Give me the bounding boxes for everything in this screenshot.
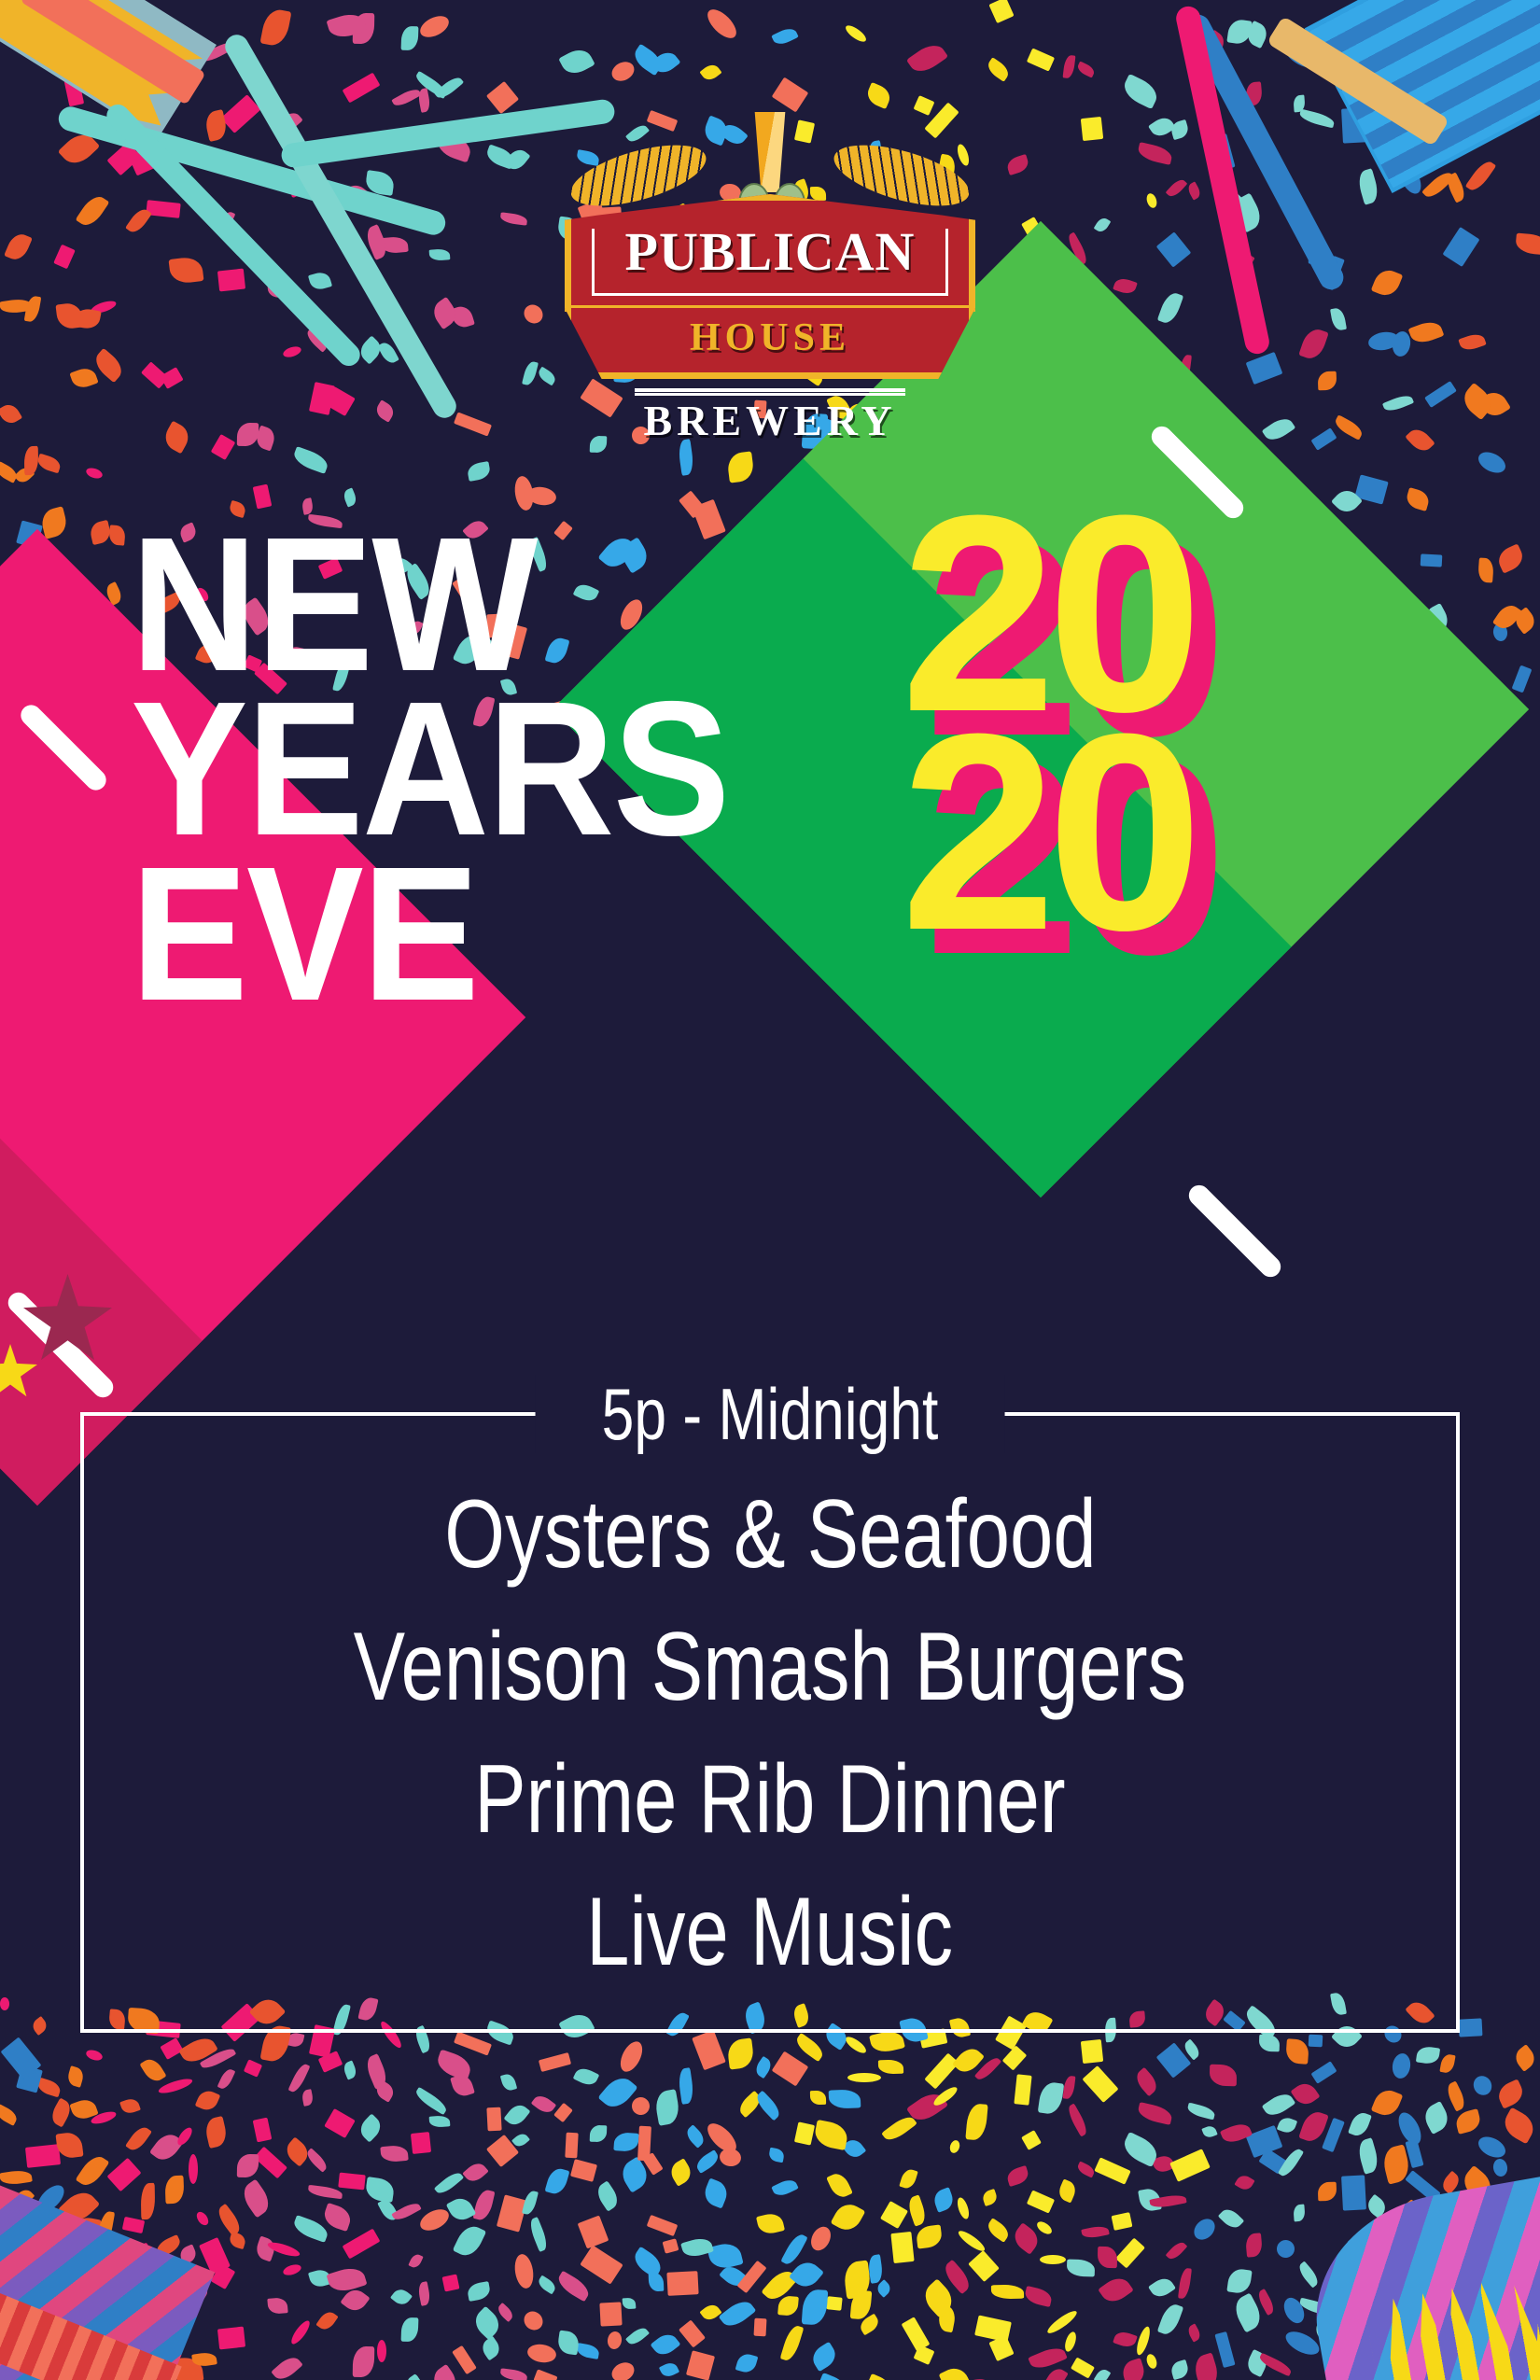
confetti-piece [1424,381,1457,408]
confetti-piece [53,245,76,270]
logo-publican-text: PUBLICAN [571,225,969,279]
confetti-piece [1515,233,1540,256]
confetti-piece [719,2262,748,2291]
confetti-piece [1094,216,1112,234]
confetti-piece [802,2289,829,2326]
confetti-piece [1098,2247,1117,2268]
confetti-piece [875,2279,893,2298]
confetti-piece [1157,290,1184,326]
confetti-piece [844,2034,869,2055]
confetti-piece [1246,2125,1283,2158]
confetti-piece [1444,2080,1468,2111]
confetti-piece [1348,2110,1372,2139]
confetti-piece [761,2266,798,2305]
confetti-piece [607,2331,623,2350]
confetti-piece [1333,414,1365,440]
confetti-piece [599,2302,622,2326]
confetti-piece [200,2045,236,2072]
confetti-piece [1416,2045,1440,2065]
confetti-piece [914,2345,935,2365]
confetti-piece [14,465,35,486]
confetti-piece [594,2180,623,2211]
confetti-piece [504,2101,531,2129]
confetti-piece [1285,2038,1309,2065]
confetti-piece [1458,331,1486,353]
confetti-piece [467,2281,492,2302]
confetti-piece [531,2093,556,2117]
confetti-piece [450,303,475,329]
confetti-piece [390,2286,413,2308]
confetti-piece [520,2307,546,2333]
confetti-piece [338,2173,366,2191]
confetti-piece [1245,2233,1263,2257]
confetti-piece [1310,427,1337,451]
confetti-piece [1063,2075,1076,2099]
confetti-piece [1354,474,1388,504]
confetti-piece [974,2054,1001,2082]
confetti-piece [90,2109,118,2126]
confetti-piece [1067,2259,1096,2276]
confetti-piece [810,2091,826,2105]
confetti-piece [719,2296,757,2331]
confetti-piece [160,367,183,389]
confetti-piece [1186,181,1203,200]
confetti-piece [1477,557,1494,582]
confetti-piece [858,2314,882,2336]
confetti-piece [401,2373,434,2380]
confetti-piece [1226,2267,1252,2294]
confetti-piece [1210,2065,1237,2087]
confetti-piece [794,2121,815,2145]
confetti-piece [826,2296,842,2311]
confetti-piece [1459,2018,1483,2037]
confetti-piece [867,2254,884,2284]
confetti-piece [952,2044,985,2078]
confetti-piece [1391,2052,1412,2080]
confetti-piece [326,2264,367,2295]
confetti-piece [411,2132,431,2154]
confetti-piece [1367,330,1401,353]
confetti-piece [939,2364,973,2380]
menu-item-label: Oysters & Seafood [444,1468,1096,1601]
confetti-piece [429,2115,451,2128]
confetti-piece [343,73,381,104]
confetti-piece [340,2285,370,2315]
confetti-piece [125,205,152,235]
confetti-piece [680,2235,714,2260]
confetti-piece [1500,2107,1539,2145]
confetti-piece [780,2324,805,2363]
confetti-piece [1458,383,1496,420]
confetti-piece [1511,607,1538,635]
confetti-piece [756,2211,785,2236]
confetti-piece [343,2229,381,2260]
confetti-piece [413,71,450,99]
confetti-piece [434,2050,473,2081]
confetti-piece [905,2194,928,2226]
confetti-piece [1201,2124,1217,2139]
confetti-piece [282,2136,313,2166]
confetti-piece [453,2221,486,2260]
confetti-piece [146,200,180,218]
confetti-piece [1021,2130,1042,2150]
confetti-piece [890,2232,914,2263]
confetti-piece [1182,2038,1202,2060]
confetti-piece [625,2325,650,2348]
confetti-piece [1113,276,1138,297]
confetti-piece [1148,114,1176,140]
confetti-piece [89,520,113,545]
confetti-piece [536,367,557,386]
confetti-piece [659,2360,679,2379]
confetti-piece [391,2200,421,2223]
confetti-piece [85,2048,104,2062]
confetti-piece [1259,2035,1281,2052]
confetti-piece [499,212,527,225]
confetti-piece [931,2187,956,2213]
confetti-piece [35,2078,62,2098]
confetti-piece [353,2346,375,2377]
confetti-piece [520,301,546,327]
confetti-piece [238,2179,274,2219]
confetti-piece [1043,2365,1068,2380]
confetti-piece [254,2147,287,2179]
confetti-piece [91,348,127,383]
confetti-piece [1330,307,1347,331]
confetti-piece [413,2087,450,2115]
confetti-piece [450,2072,475,2098]
confetti-piece [1169,2149,1211,2182]
confetti-piece [666,2271,698,2296]
confetti-piece [1038,2080,1064,2115]
confetti-piece [1310,2061,1337,2084]
confetti-piece [931,2084,959,2108]
confetti-piece [1023,2286,1053,2307]
confetti-piece [813,2120,850,2150]
confetti-piece [108,525,126,545]
confetti-piece [1230,2292,1266,2332]
confetti-piece [1290,2079,1320,2108]
confetti-piece [844,22,869,44]
confetti-piece [511,2131,530,2149]
confetti-piece [69,365,98,391]
confetti-piece [693,2149,721,2174]
confetti-piece [1277,2115,1297,2135]
confetti-piece [554,2271,592,2303]
menu-item-label: Venison Smash Burgers [354,1601,1187,1733]
confetti-piece [1186,2103,1216,2121]
confetti-piece [522,2190,539,2216]
confetti-piece [576,2343,600,2359]
confetti-piece [1076,62,1097,78]
confetti-piece [707,2240,743,2271]
confetti-piece [149,2129,184,2165]
confetti-piece [1391,330,1412,358]
year-bottom-digits: 20 [901,722,1194,941]
confetti-piece [956,2228,987,2254]
confetti-piece [321,2203,354,2232]
confetti-piece [789,2257,824,2292]
confetti-piece [1494,2079,1526,2108]
confetti-piece [772,77,809,113]
confetti-piece [617,2156,652,2192]
confetti-piece [315,2309,338,2333]
confetti-piece [1040,2255,1066,2264]
confetti-piece [1145,2353,1158,2370]
confetti-piece [754,2318,767,2337]
confetti-piece [1071,2357,1095,2378]
confetti-piece [771,25,799,48]
confetti-piece [119,2096,141,2115]
confetti-piece [651,48,681,77]
confetti-piece [1191,2352,1221,2380]
confetti-piece [1149,2192,1186,2209]
confetti-piece [486,2107,501,2132]
confetti-piece [253,2118,273,2143]
confetti-piece [467,461,492,482]
confetti-piece [807,2223,834,2254]
confetti-piece [356,2113,385,2142]
confetti-piece [4,231,33,263]
confetti-piece [287,2031,305,2048]
confetti-piece [1137,2102,1174,2125]
confetti-piece [1492,601,1522,633]
beer-glass-wheat-hops-emblem-icon [565,110,975,200]
confetti-piece [1120,74,1162,109]
confetti-piece [1477,387,1511,421]
confetti-piece [428,2364,460,2380]
confetti-piece [985,2218,1012,2243]
logo-banner-upper: PUBLICAN [565,194,975,312]
menu-item: Venison Smash Burgers [84,1601,1456,1733]
confetti-piece [1405,425,1435,455]
confetti-piece [1005,154,1030,175]
confetti-piece [527,2217,551,2252]
confetti-piece [948,2139,961,2154]
confetti-piece [1063,2331,1078,2353]
confetti-piece [308,2267,332,2289]
confetti-piece [452,2345,477,2374]
confetti-piece [768,2148,785,2163]
confetti-piece [512,2253,536,2290]
confetti-piece [1081,117,1103,141]
confetti-piece [808,2342,840,2372]
confetti-piece [178,2033,218,2067]
confetti-piece [1439,2053,1455,2074]
confetti-piece [484,144,516,169]
confetti-piece [653,2089,681,2126]
confetti-piece [35,454,62,474]
confetti-piece [1098,2273,1134,2307]
confetti-piece [649,2273,665,2292]
confetti-piece [139,2055,166,2085]
confetti-piece [692,2030,726,2071]
confetti-piece [0,2104,20,2126]
confetti-piece [780,2232,807,2267]
confetti-piece [1082,2065,1118,2103]
confetti-piece [522,360,539,386]
confetti-piece [981,2189,999,2206]
confetti-piece [526,2343,558,2365]
confetti-piece [974,2315,1012,2342]
confetti-piece [25,2144,61,2168]
confetti-piece [324,2108,356,2138]
confetti-piece [175,2125,194,2148]
brewery-logo: PUBLICAN HOUSE BREWERY [565,110,975,442]
confetti-piece [1244,2349,1270,2377]
confetti-piece [288,2318,313,2346]
confetti-piece [777,2295,799,2317]
confetti-piece [985,57,1012,82]
confetti-piece [736,2261,766,2293]
confetti-piece [363,2053,390,2090]
confetti-piece [1035,2219,1054,2237]
confetti-piece [679,2319,706,2347]
confetti-piece [609,58,637,84]
confetti-piece [726,451,755,483]
confetti-piece [590,2125,608,2143]
confetti-piece [1470,2073,1494,2098]
poster-headline: NEW YEARS EVE [131,523,780,1016]
confetti-piece [918,2278,958,2318]
confetti-piece [291,2215,330,2243]
confetti-piece [429,248,451,261]
confetti-piece [1421,2101,1452,2135]
confetti-piece [217,2067,236,2091]
confetti-piece [1166,176,1188,199]
confetti-piece [160,2037,183,2060]
confetti-piece [0,298,33,315]
confetti-piece [667,2158,695,2187]
confetti-piece [479,2336,503,2361]
confetti-piece [924,2053,959,2090]
confetti-piece [417,88,432,113]
confetti-piece [677,439,694,476]
confetti-piece [864,82,893,109]
confetti-piece [500,2072,517,2092]
confetti-piece [677,2067,694,2105]
confetti-piece [486,81,519,114]
confetti-piece [1442,227,1479,267]
confetti-piece [1421,553,1443,567]
confetti-piece [377,2340,386,2362]
confetti-piece [1371,266,1404,300]
confetti-piece [814,2373,850,2380]
confetti-piece [66,2065,86,2088]
confetti-piece [906,39,948,77]
confetti-piece [539,2052,571,2072]
confetti-piece [623,2298,637,2310]
confetti-piece [416,12,452,42]
confetti-piece [609,2359,637,2380]
confetti-piece [1002,2045,1028,2070]
event-info-box: 5p - Midnight Oysters & Seafood Venison … [80,1412,1460,2033]
confetti-piece [16,2065,43,2093]
confetti-piece [968,2250,1000,2282]
confetti-piece [1065,2104,1090,2137]
confetti-piece [237,423,259,446]
confetti-piece [1081,2039,1103,2064]
confetti-piece [307,2185,343,2199]
headline-line-eve: EVE [131,852,729,1016]
confetti-piece [417,2281,432,2306]
confetti-piece [699,2302,721,2323]
confetti-piece [573,2065,600,2089]
party-popper-bottom-left-icon [0,2175,233,2380]
confetti-piece [244,2059,262,2077]
confetti-piece [73,307,102,331]
confetti-piece [703,5,741,43]
confetti-piece [1010,2222,1043,2255]
confetti-piece [373,399,397,422]
confetti-piece [878,2060,903,2074]
confetti-piece [282,2262,302,2277]
menu-item-label: Live Music [586,1866,953,1998]
confetti-piece [442,2275,460,2292]
confetti-piece [988,0,1014,23]
confetti-piece [271,2353,303,2380]
confetti-piece [1405,487,1432,511]
event-time-label: 5p - Midnight [536,1375,1005,1453]
confetti-piece [864,2373,893,2380]
confetti-piece [237,2154,259,2177]
confetti-piece [401,2317,419,2343]
confetti-piece [0,461,20,483]
logo-house-text: HOUSE [571,308,969,368]
confetti-piece [30,2016,49,2036]
confetti-piece [168,256,203,285]
beer-glass-icon [748,112,792,192]
confetti-piece [1005,2165,1030,2187]
confetti-piece [499,2368,527,2380]
white-slash-green-bottom [1184,1181,1284,1281]
confetti-piece [1,2037,42,2079]
confetti-piece [826,2170,853,2201]
confetti-piece [553,2103,573,2122]
confetti-piece [1492,623,1509,642]
confetti-piece [630,44,665,76]
confetti-piece [353,13,375,44]
confetti-piece [1094,2367,1112,2380]
confetti-piece [1152,2153,1176,2176]
confetti-piece [1166,2239,1188,2261]
logo-brewery-text: BREWERY [565,399,975,442]
confetti-piece [90,299,118,315]
confetti-piece [850,2289,873,2320]
confetti-piece [254,2236,277,2262]
confetti-piece [771,2177,799,2199]
confetti-piece [324,386,356,416]
confetti-piece [630,2247,665,2278]
menu-item: Live Music [84,1866,1456,1998]
confetti-piece [1262,414,1296,445]
confetti-piece [161,421,193,455]
confetti-piece [267,2297,287,2315]
confetti-piece [301,2089,314,2107]
confetti-piece [1454,2108,1483,2135]
confetti-piece [434,2169,464,2197]
confetti-piece [1331,485,1363,517]
confetti-piece [902,2317,931,2351]
confetti-piece [719,2147,743,2167]
confetti-piece [1190,2215,1219,2244]
confetti-piece [497,2194,527,2232]
confetti-piece [536,2275,557,2295]
confetti-piece [1028,2344,1068,2373]
confetti-piece [1255,2289,1277,2316]
confetti-piece [753,2056,775,2079]
confetti-piece [0,1997,9,2010]
